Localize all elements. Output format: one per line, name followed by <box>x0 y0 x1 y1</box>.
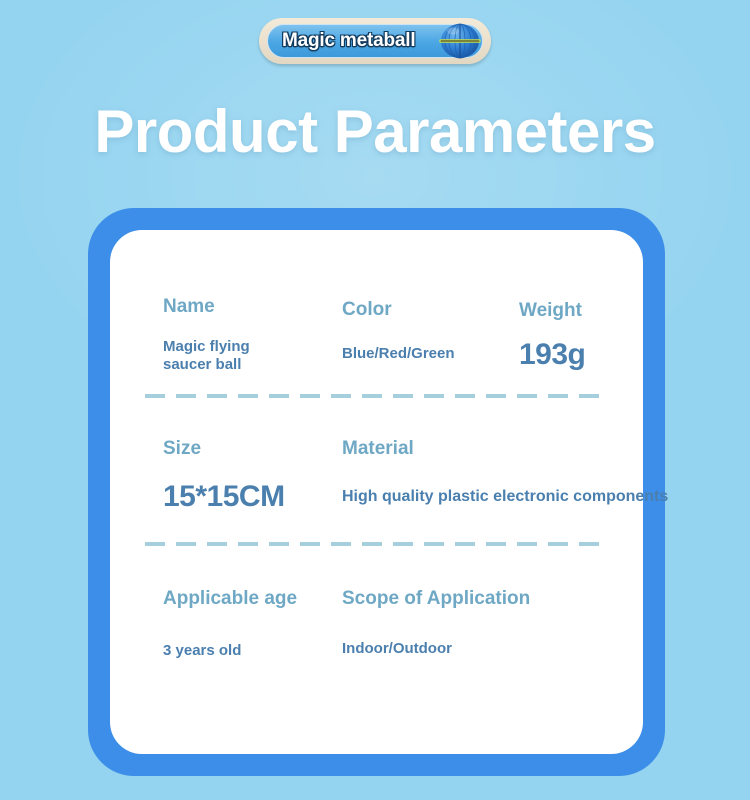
spec-label-size: Size <box>163 438 285 460</box>
spec-label-scope-of-application: Scope of Application <box>342 588 530 610</box>
spec-cell-color: Color Blue/Red/Green <box>342 299 455 362</box>
spec-cell-weight: Weight 193g <box>519 300 585 372</box>
magic-metaball-icon <box>435 16 485 66</box>
spec-label-name: Name <box>163 296 283 318</box>
spec-value-color: Blue/Red/Green <box>342 345 455 362</box>
spec-cell-applicable-age: Applicable age 3 years old <box>163 588 297 659</box>
spec-value-name: Magic flying saucer ball <box>163 338 283 375</box>
brand-badge: Magic metaball <box>259 18 491 64</box>
spec-divider <box>145 542 600 546</box>
spec-cell-material: Material High quality plastic electronic… <box>342 438 668 506</box>
spec-value-applicable-age: 3 years old <box>163 642 297 659</box>
brand-badge-label: Magic metaball <box>282 30 415 52</box>
spec-divider <box>145 394 600 398</box>
spec-label-color: Color <box>342 299 455 321</box>
spec-cell-name: Name Magic flying saucer ball <box>163 296 283 375</box>
spec-value-size: 15*15CM <box>163 480 285 514</box>
spec-label-material: Material <box>342 438 668 460</box>
spec-value-scope-of-application: Indoor/Outdoor <box>342 640 530 657</box>
page-title: Product Parameters <box>0 97 750 166</box>
spec-value-weight: 193g <box>519 338 585 372</box>
spec-cell-size: Size 15*15CM <box>163 438 285 514</box>
spec-label-applicable-age: Applicable age <box>163 588 297 610</box>
spec-table: Name Magic flying saucer ball Color Blue… <box>88 208 665 776</box>
spec-label-weight: Weight <box>519 300 585 322</box>
spec-value-material: High quality plastic electronic componen… <box>342 488 668 506</box>
spec-cell-scope-of-application: Scope of Application Indoor/Outdoor <box>342 588 530 657</box>
